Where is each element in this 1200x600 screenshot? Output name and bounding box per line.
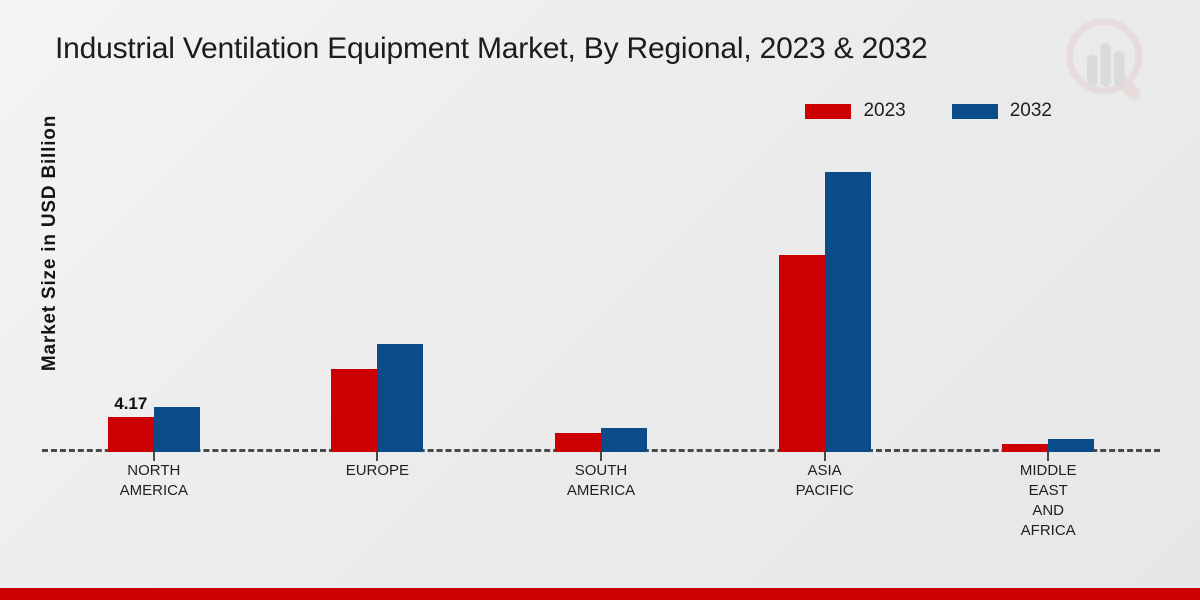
category-label: MIDDLE EAST AND AFRICA	[1020, 461, 1077, 541]
chart-legend: 2023 2032	[805, 100, 1052, 122]
legend-swatch-2032	[952, 104, 998, 119]
axis-tick	[153, 452, 155, 461]
bar-2032[interactable]	[825, 172, 871, 452]
legend-item-2023[interactable]: 2023	[805, 100, 905, 122]
category-label: SOUTH AMERICA	[567, 461, 635, 501]
bar-group: 4.17 NORTH AMERICA	[42, 150, 266, 452]
chart-title: Industrial Ventilation Equipment Market,…	[55, 32, 928, 66]
bar-2023[interactable]	[555, 433, 601, 452]
bar-2032[interactable]	[377, 344, 423, 452]
bar-2023[interactable]	[779, 255, 825, 452]
bar-2032[interactable]	[154, 407, 200, 452]
bar-2023[interactable]	[1002, 444, 1048, 452]
axis-tick	[376, 452, 378, 461]
bar-group: EUROPE	[266, 150, 490, 452]
legend-item-2032[interactable]: 2032	[952, 100, 1052, 122]
chart-page: Industrial Ventilation Equipment Market,…	[0, 0, 1200, 600]
category-label: NORTH AMERICA	[120, 461, 188, 501]
legend-label-2032: 2032	[1010, 100, 1052, 122]
category-label: EUROPE	[346, 461, 409, 481]
legend-label-2023: 2023	[863, 100, 905, 122]
category-label: ASIA PACIFIC	[796, 461, 854, 501]
bar-2032[interactable]	[1048, 439, 1094, 452]
axis-tick	[824, 452, 826, 461]
axis-tick	[1047, 452, 1049, 461]
bar-group: ASIA PACIFIC	[713, 150, 937, 452]
legend-swatch-2023	[805, 104, 851, 119]
bar-2032[interactable]	[601, 428, 647, 452]
footer-stripe	[0, 588, 1200, 600]
bar-value-label: 4.17	[114, 394, 147, 414]
watermark-logo	[1062, 14, 1158, 110]
bar-2023[interactable]	[331, 369, 377, 452]
bar-group: SOUTH AMERICA	[489, 150, 713, 452]
axis-tick	[600, 452, 602, 461]
plot-area: 4.17 NORTH AMERICA EUROPE	[42, 150, 1160, 452]
bar-group: MIDDLE EAST AND AFRICA	[936, 150, 1160, 452]
bar-2023[interactable]: 4.17	[108, 417, 154, 452]
